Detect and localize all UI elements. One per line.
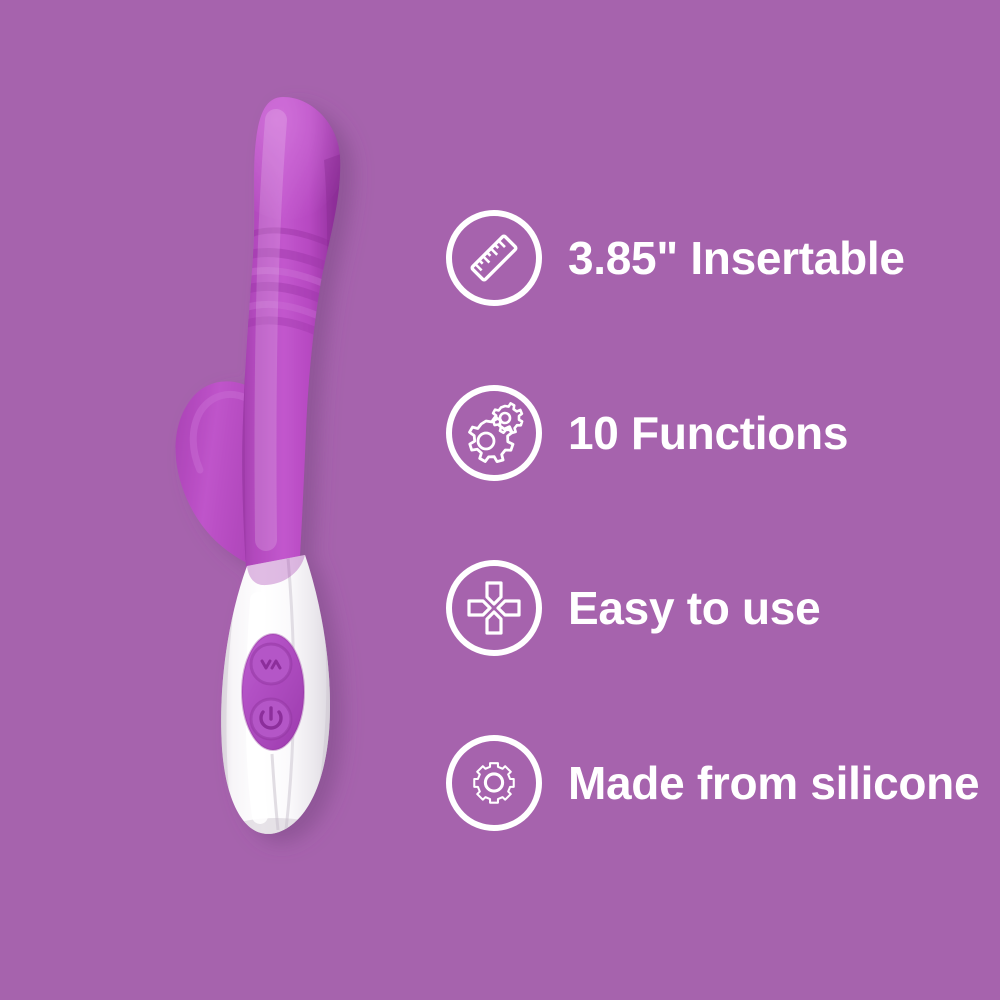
feature-row-easy-to-use: Easy to use bbox=[446, 520, 1000, 695]
infographic-page: 3.85" Insertable 10 Function bbox=[0, 0, 1000, 1000]
feature-label: Made from silicone bbox=[568, 760, 979, 806]
gears-icon bbox=[446, 385, 542, 481]
control-pad[interactable] bbox=[242, 634, 304, 750]
feature-label: Easy to use bbox=[568, 585, 820, 631]
ruler-icon bbox=[446, 210, 542, 306]
product-illustration bbox=[0, 0, 460, 1000]
feature-row-insertable: 3.85" Insertable bbox=[446, 170, 1000, 345]
gear-icon bbox=[446, 735, 542, 831]
product-image bbox=[0, 0, 460, 1000]
feature-list: 3.85" Insertable 10 Function bbox=[446, 170, 1000, 870]
dpad-icon bbox=[446, 560, 542, 656]
feature-label: 10 Functions bbox=[568, 410, 848, 456]
feature-label: 3.85" Insertable bbox=[568, 235, 905, 281]
feature-row-functions: 10 Functions bbox=[446, 345, 1000, 520]
power-button[interactable] bbox=[251, 699, 291, 739]
feature-row-silicone: Made from silicone bbox=[446, 695, 1000, 870]
mode-button[interactable] bbox=[251, 644, 291, 684]
